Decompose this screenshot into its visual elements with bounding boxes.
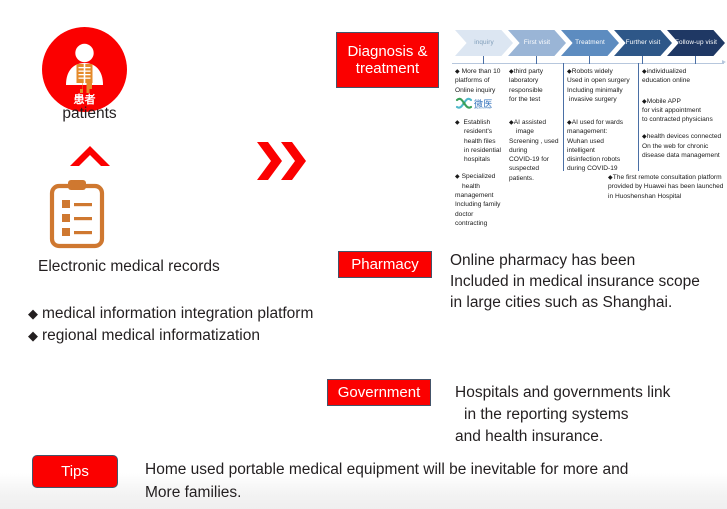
note-line: platforms of — [455, 77, 489, 84]
emr-label: Electronic medical records — [38, 258, 220, 276]
note-line: patients. — [509, 175, 534, 182]
pharmacy-line-1: Online pharmacy has been — [450, 250, 725, 271]
flow-stage-treatment-label: Treatment — [567, 39, 613, 47]
axis-tick — [483, 56, 484, 64]
note-item: ◆third party laboratory responsible for … — [509, 67, 565, 104]
note-line: disease data management — [642, 152, 720, 159]
flow-stage-inquiry-label: inquiry — [461, 39, 507, 47]
diamond-bullet-icon: ◆ — [455, 68, 460, 75]
timeline-axis — [452, 63, 724, 64]
patient-person-icon: 患者 — [42, 27, 127, 112]
diamond-bullet-icon: ◆ — [455, 173, 460, 180]
axis-tick — [589, 56, 590, 64]
pharmacy-line-3: in large cities such as Shanghai. — [450, 292, 725, 313]
note-line: management: — [567, 128, 607, 135]
axis-tick — [695, 56, 696, 64]
note-line: education online — [642, 77, 690, 84]
pharmacy-description: Online pharmacy has been Included in med… — [450, 250, 725, 313]
note-line: Including family — [455, 201, 500, 208]
note-item: ◆Mobile APP for visit appointment to con… — [642, 97, 727, 125]
flow-notes-treatment: ◆Robots widely Used in open surgery Incl… — [567, 67, 637, 112]
note-line: Specialized health — [462, 173, 496, 189]
patient-badge-text: 患者 — [74, 92, 96, 106]
note-item: ◆ More than 10 platforms of Online inqui… — [455, 67, 513, 95]
note-line: Mobile APP — [647, 98, 681, 105]
clipboard-checklist-icon — [48, 178, 106, 250]
patient-icon-circle: 患者 — [42, 27, 127, 112]
note-line: health devices connected — [647, 133, 721, 140]
diamond-bullet-icon: ◆ — [28, 328, 38, 343]
note-line: third party — [514, 68, 543, 75]
list-item: ◆regional medical informatization — [28, 325, 358, 347]
diamond-bullet-icon: ◆ — [28, 306, 38, 321]
note-line: health files — [464, 138, 496, 145]
flow-notes-follow-up: ◆individualized education online ◆Mobile… — [642, 67, 727, 168]
wedoctor-logo-icon — [455, 97, 473, 111]
tag-government[interactable]: Government — [327, 379, 431, 406]
note-item: ◆individualized education online — [642, 67, 727, 86]
double-right-chevron-icon — [255, 138, 311, 184]
note-line: Online inquiry — [455, 87, 495, 94]
flow-notes-first-visit: ◆third party laboratory responsible for … — [509, 67, 565, 112]
tag-diagnosis-line2: treatment — [356, 60, 419, 77]
government-description: Hospitals and governments link in the re… — [455, 382, 720, 448]
tips-description: Home used portable medical equipment wil… — [145, 458, 720, 504]
wedoctor-logo-sub: WEDOCTOR — [474, 107, 491, 110]
flow-footnote: ◆The first remote consultation platform … — [608, 173, 727, 201]
column-separator — [638, 63, 639, 171]
note-line: individualized — [647, 68, 687, 75]
bullet-text: regional medical informatization — [42, 327, 260, 344]
note-line: intelligent — [567, 147, 595, 154]
note-line: during COVID-19 — [567, 165, 618, 172]
diamond-bullet-icon: ◆ — [455, 119, 460, 126]
note-line: Establish — [463, 119, 490, 126]
timeline-axis-arrow — [722, 60, 726, 64]
note-item: ◆AI assisted image Screening , used duri… — [509, 118, 565, 183]
note-item: ◆health devices connected On the web for… — [642, 132, 727, 160]
note-line: to contracted physicians — [642, 116, 713, 123]
note-line: in residential — [464, 147, 501, 154]
flow-stage-first-visit-label: First visit — [514, 39, 560, 47]
note-item: ◆AI used for wards management: Wuhan use… — [567, 118, 637, 174]
note-line: More than 10 — [462, 68, 501, 75]
list-item: ◆medical information integration platfor… — [28, 303, 358, 325]
emr-bullet-list: ◆medical information integration platfor… — [28, 303, 358, 347]
flow-notes-inquiry-2: ◆ Establish resident's health files in r… — [455, 118, 513, 236]
pharmacy-line-2: Included in medical insurance scope — [450, 271, 725, 292]
note-line: COVID-19 for — [509, 156, 549, 163]
slide-canvas: 患者 patients Electronic medical records ◆… — [0, 0, 727, 509]
note-line: laboratory — [509, 77, 538, 84]
note-line: On the web for chronic — [642, 143, 708, 150]
patient-label: patients — [42, 105, 137, 123]
tag-pharmacy[interactable]: Pharmacy — [338, 251, 432, 278]
wedoctor-logo: 微医 WEDOCTOR — [455, 97, 507, 111]
government-line-3: and health insurance. — [455, 426, 720, 448]
note-line: management — [455, 192, 494, 199]
axis-tick — [536, 56, 537, 64]
note-line: disinfection robots — [567, 156, 620, 163]
axis-tick — [642, 56, 643, 64]
tag-tips[interactable]: Tips — [32, 455, 118, 488]
note-line: Used in open surgery — [567, 77, 630, 84]
note-line: responsible — [509, 87, 543, 94]
up-chevron-icon — [68, 144, 112, 168]
process-flow-chevrons: inquiry First visit Treatment Further vi… — [455, 30, 725, 56]
note-line: AI assisted image — [514, 119, 546, 135]
note-line: Screening , used — [509, 138, 559, 145]
note-line: contracting — [455, 220, 487, 227]
flow-stage-follow-up-visit-label: Follow-up visit — [673, 39, 719, 47]
tips-line-1: Home used portable medical equipment wil… — [145, 458, 720, 481]
note-line: for visit appointment — [642, 107, 701, 114]
note-line: Robots widely — [572, 68, 613, 75]
note-line: for the test — [509, 96, 540, 103]
tag-diagnosis-treatment[interactable]: Diagnosis & treatment — [336, 32, 439, 88]
government-line-2: in the reporting systems — [455, 404, 720, 426]
note-line: in Huoshenshan Hospital — [608, 193, 681, 200]
note-line: hospitals — [464, 156, 490, 163]
note-line: doctor — [455, 211, 473, 218]
note-line: AI used for wards — [572, 119, 623, 126]
note-item: ◆ Establish resident's health files in r… — [455, 118, 513, 164]
tag-diagnosis-line1: Diagnosis & — [347, 43, 427, 60]
note-item: ◆Robots widely Used in open surgery Incl… — [567, 67, 637, 104]
note-line: provided by Huawei has been launched — [608, 183, 723, 190]
note-line: Including minimally — [567, 87, 623, 94]
government-line-1: Hospitals and governments link — [455, 382, 720, 404]
tips-line-2: More families. — [145, 481, 720, 504]
note-line: Wuhan used — [567, 138, 604, 145]
flow-stage-further-visit-label: Further visit — [620, 39, 666, 47]
bullet-text: medical information integration platform — [42, 305, 313, 322]
note-line: The first remote consultation platform — [613, 174, 722, 181]
note-item: ◆ Specialized health management Includin… — [455, 172, 513, 228]
flow-notes-first-visit-2: ◆AI assisted image Screening , used duri… — [509, 118, 565, 191]
note-line: suspected — [509, 165, 539, 172]
note-line: during — [509, 147, 527, 154]
note-line: resident's — [464, 128, 492, 135]
note-line: invasive surgery — [569, 96, 617, 103]
